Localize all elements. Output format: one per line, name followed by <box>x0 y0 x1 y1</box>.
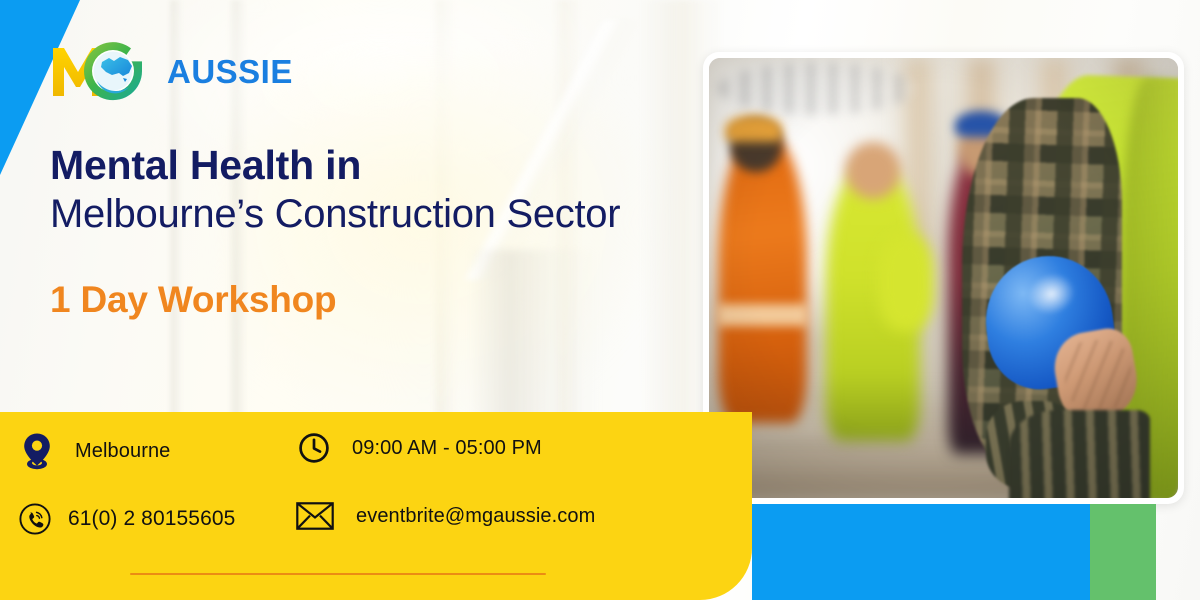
clock-icon <box>298 432 330 464</box>
envelope-icon <box>296 502 334 530</box>
accent-bar-green <box>1090 504 1156 600</box>
background-pillar <box>470 250 600 430</box>
info-location-value: Melbourne <box>75 440 170 463</box>
info-phone: 61(0) 2 80155605 <box>18 502 235 536</box>
location-pin-icon <box>22 432 52 470</box>
info-location: Melbourne <box>22 432 170 470</box>
event-banner: AUSSIE Mental Health in Melbourne’s Cons… <box>0 0 1200 600</box>
page-title-line-2: Melbourne’s Construction Sector <box>50 191 710 238</box>
info-email-value: eventbrite@mgaussie.com <box>356 505 595 528</box>
workshop-subtitle: 1 Day Workshop <box>50 281 336 318</box>
hero-photo <box>709 58 1178 498</box>
brand-logo: AUSSIE <box>47 40 293 102</box>
info-time: 09:00 AM - 05:00 PM <box>298 432 542 464</box>
info-phone-value: 61(0) 2 80155605 <box>68 507 235 531</box>
accent-bar-blue <box>752 504 1090 600</box>
event-info-panel: Melbourne 09:00 AM - 05:00 PM <box>0 412 752 600</box>
hero-photo-card <box>703 52 1184 504</box>
panel-divider <box>130 573 546 575</box>
brand-logo-wordmark: AUSSIE <box>167 55 293 88</box>
info-email: eventbrite@mgaussie.com <box>296 502 595 530</box>
mg-aussie-logo-icon <box>47 40 165 102</box>
phone-icon <box>18 502 52 536</box>
headline-block: Mental Health in Melbourne’s Constructio… <box>50 143 710 238</box>
info-time-value: 09:00 AM - 05:00 PM <box>352 437 542 460</box>
page-title-line-1: Mental Health in <box>50 143 710 189</box>
